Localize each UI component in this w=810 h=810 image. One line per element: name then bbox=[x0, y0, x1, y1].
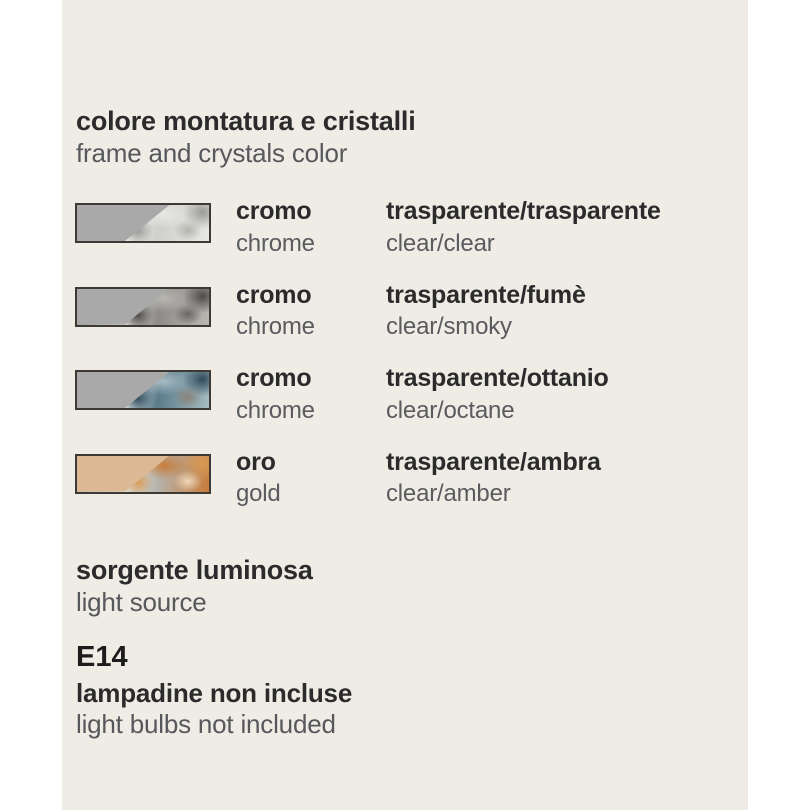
bulb-spec-block: E14 lampadine non incluse light bulbs no… bbox=[76, 640, 352, 740]
color-option-row[interactable]: cromochrometrasparente/fumèclear/smoky bbox=[62, 287, 748, 349]
option-frame-name: orogold bbox=[236, 446, 386, 510]
option-crystals-description: trasparente/ottanioclear/octane bbox=[386, 362, 746, 426]
option-crystals-description: trasparente/trasparenteclear/clear bbox=[386, 195, 746, 259]
swatch-chrome-clear-smoky[interactable] bbox=[75, 287, 211, 327]
option-crystals-description-it: trasparente/trasparente bbox=[386, 195, 746, 228]
option-crystals-description: trasparente/fumèclear/smoky bbox=[386, 279, 746, 343]
option-frame-name-it: cromo bbox=[236, 279, 386, 312]
option-crystals-description: trasparente/ambraclear/amber bbox=[386, 446, 746, 510]
option-frame-name-it: cromo bbox=[236, 362, 386, 395]
swatch-chrome-clear-clear[interactable] bbox=[75, 203, 211, 243]
option-frame-name-it: cromo bbox=[236, 195, 386, 228]
section-title-colors-en: frame and crystals color bbox=[76, 138, 416, 169]
option-frame-name: cromochrome bbox=[236, 279, 386, 343]
option-crystals-description-it: trasparente/fumè bbox=[386, 279, 746, 312]
color-option-row[interactable]: cromochrometrasparente/trasparenteclear/… bbox=[62, 203, 748, 265]
swatch-chrome-clear-octane[interactable] bbox=[75, 370, 211, 410]
section-heading-light-source: sorgente luminosa light source bbox=[76, 555, 313, 618]
section-title-light-source-it: sorgente luminosa bbox=[76, 555, 313, 587]
section-title-colors-it: colore montatura e cristalli bbox=[76, 106, 416, 138]
option-frame-name: cromochrome bbox=[236, 195, 386, 259]
bulb-socket-code: E14 bbox=[76, 640, 352, 675]
option-frame-name: cromochrome bbox=[236, 362, 386, 426]
color-option-row[interactable]: orogoldtrasparente/ambraclear/amber bbox=[62, 454, 748, 516]
product-spec-panel: colore montatura e cristalli frame and c… bbox=[0, 0, 810, 810]
option-crystals-description-en: clear/octane bbox=[386, 395, 746, 426]
color-option-row[interactable]: cromochrometrasparente/ottanioclear/octa… bbox=[62, 370, 748, 432]
option-frame-name-en: chrome bbox=[236, 395, 386, 426]
option-crystals-description-en: clear/amber bbox=[386, 478, 746, 509]
content-panel: colore montatura e cristalli frame and c… bbox=[62, 0, 748, 810]
option-frame-name-en: chrome bbox=[236, 311, 386, 342]
option-frame-name-it: oro bbox=[236, 446, 386, 479]
option-crystals-description-en: clear/smoky bbox=[386, 311, 746, 342]
bulb-note-it: lampadine non incluse bbox=[76, 678, 352, 709]
option-crystals-description-en: clear/clear bbox=[386, 228, 746, 259]
option-frame-name-en: gold bbox=[236, 478, 386, 509]
bulb-note-en: light bulbs not included bbox=[76, 709, 352, 740]
section-heading-colors: colore montatura e cristalli frame and c… bbox=[76, 106, 416, 169]
swatch-gold-clear-amber[interactable] bbox=[75, 454, 211, 494]
option-crystals-description-it: trasparente/ottanio bbox=[386, 362, 746, 395]
section-title-light-source-en: light source bbox=[76, 587, 313, 618]
option-crystals-description-it: trasparente/ambra bbox=[386, 446, 746, 479]
option-frame-name-en: chrome bbox=[236, 228, 386, 259]
